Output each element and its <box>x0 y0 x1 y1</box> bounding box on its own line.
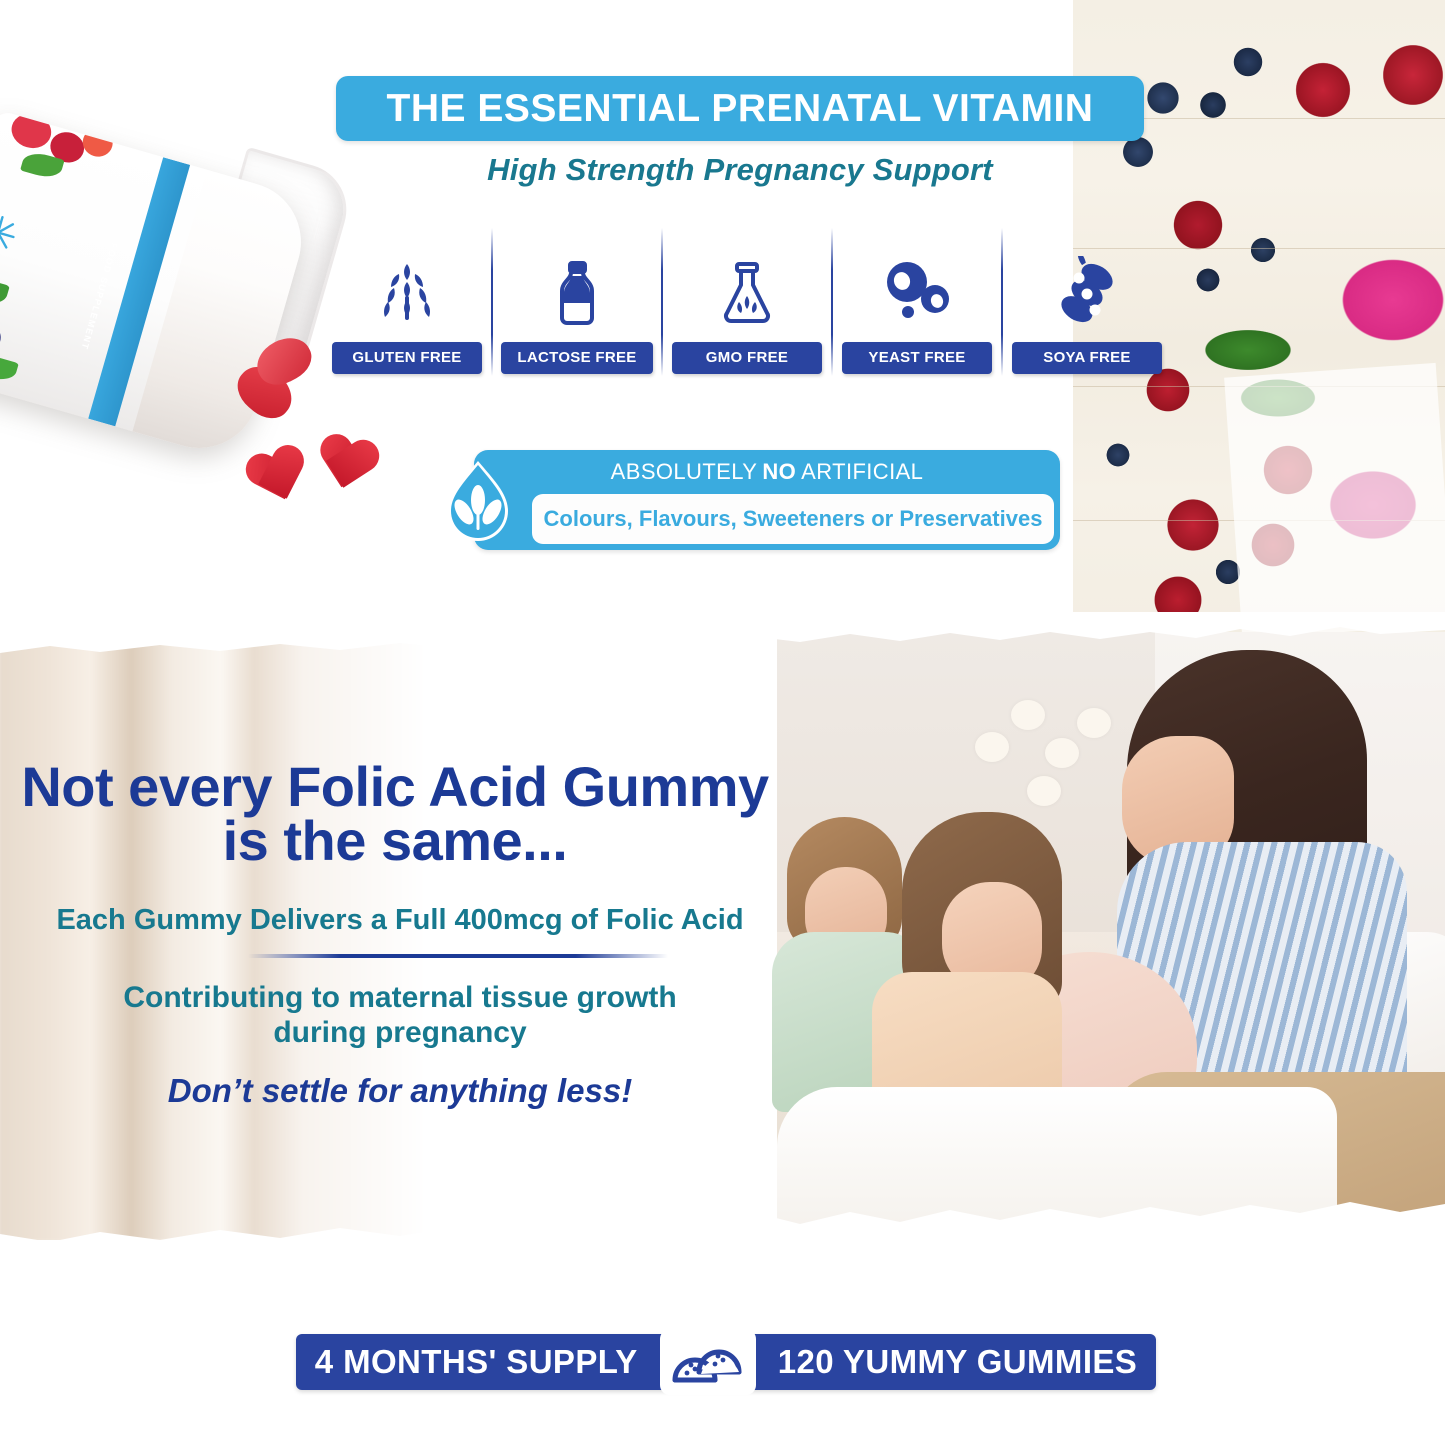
badge-label: SOYA FREE <box>1043 349 1130 366</box>
gummy-count: 120 YUMMY GUMMIES <box>778 1343 1138 1381</box>
badge-lactose-free: LACTOSE FREE <box>492 232 662 374</box>
badge-label: YEAST FREE <box>868 349 965 366</box>
supply-banner: 4 MONTHS' SUPPLY 120 YUMMY GUMMIES <box>296 1334 1156 1390</box>
water-drop-leaf-icon <box>432 456 524 548</box>
milk-bottle-icon <box>540 252 614 334</box>
badge-label: GLUTEN FREE <box>352 349 461 366</box>
middle-benefit-line2: during pregnancy <box>0 1015 800 1050</box>
snowflake-logo-icon <box>0 205 25 259</box>
supply-duration: 4 MONTHS' SUPPLY <box>315 1343 638 1381</box>
page-title-banner: THE ESSENTIAL PRENATAL VITAMIN <box>336 76 1144 141</box>
badge-label: LACTOSE FREE <box>517 349 636 366</box>
bottle-label: FOOD SUPPLEMENT <box>0 111 207 431</box>
section-divider <box>248 954 668 958</box>
wheat-icon <box>370 252 444 334</box>
badge-label: GMO FREE <box>706 349 788 366</box>
no-artificial-bold: NO <box>762 459 796 485</box>
middle-benefit-line1: Contributing to maternal tissue growth <box>0 980 800 1015</box>
middle-benefit: Contributing to maternal tissue growth d… <box>0 980 800 1051</box>
middle-headline-line2: is the same... <box>0 814 790 868</box>
badge-pill: GMO FREE <box>672 342 822 374</box>
middle-closing: Don’t settle for anything less! <box>0 1072 800 1110</box>
middle-claim: Each Gummy Delivers a Full 400mcg of Fol… <box>0 904 800 937</box>
free-from-badge-row: GLUTEN FREE LACTOSE FREE <box>322 232 1172 374</box>
badge-pill: SOYA FREE <box>1012 342 1162 374</box>
no-artificial-pre: ABSOLUTELY <box>611 459 758 485</box>
page-title: THE ESSENTIAL PRENATAL VITAMIN <box>387 87 1094 131</box>
badge-gmo-free: GMO FREE <box>662 232 832 374</box>
badge-pill: GLUTEN FREE <box>332 342 482 374</box>
badge-pill: YEAST FREE <box>842 342 992 374</box>
badge-pill: LACTOSE FREE <box>501 342 652 374</box>
badge-soya-free: SOYA FREE <box>1002 232 1172 374</box>
soybean-pod-icon <box>1048 252 1126 334</box>
no-artificial-list: Colours, Flavours, Sweeteners or Preserv… <box>544 506 1043 532</box>
yeast-cells-icon <box>878 252 956 334</box>
heart-gummy <box>311 432 383 500</box>
badge-gluten-free: GLUTEN FREE <box>322 232 492 374</box>
no-artificial-headline: ABSOLUTELY NO ARTIFICIAL <box>474 450 1060 494</box>
product-infographic: FOOD SUPPLEMENT THE ESSENTIAL PRENATAL V… <box>0 0 1445 1445</box>
middle-headline: Not every Folic Acid Gummy is the same..… <box>0 760 790 868</box>
flask-icon <box>710 252 784 334</box>
pregnant-mother-family-photo <box>777 632 1445 1240</box>
top-section: FOOD SUPPLEMENT THE ESSENTIAL PRENATAL V… <box>0 0 1445 632</box>
gummy-pieces-icon <box>660 1329 756 1395</box>
badge-yeast-free: YEAST FREE <box>832 232 1002 374</box>
no-artificial-post: ARTIFICIAL <box>801 459 923 485</box>
middle-headline-line1: Not every Folic Acid Gummy <box>0 760 790 814</box>
page-subtitle: High Strength Pregnancy Support <box>336 152 1144 188</box>
middle-section: Not every Folic Acid Gummy is the same..… <box>0 632 1445 1240</box>
heart-gummy <box>241 442 317 514</box>
no-artificial-panel: ABSOLUTELY NO ARTIFICIAL Colours, Flavou… <box>432 450 1060 552</box>
